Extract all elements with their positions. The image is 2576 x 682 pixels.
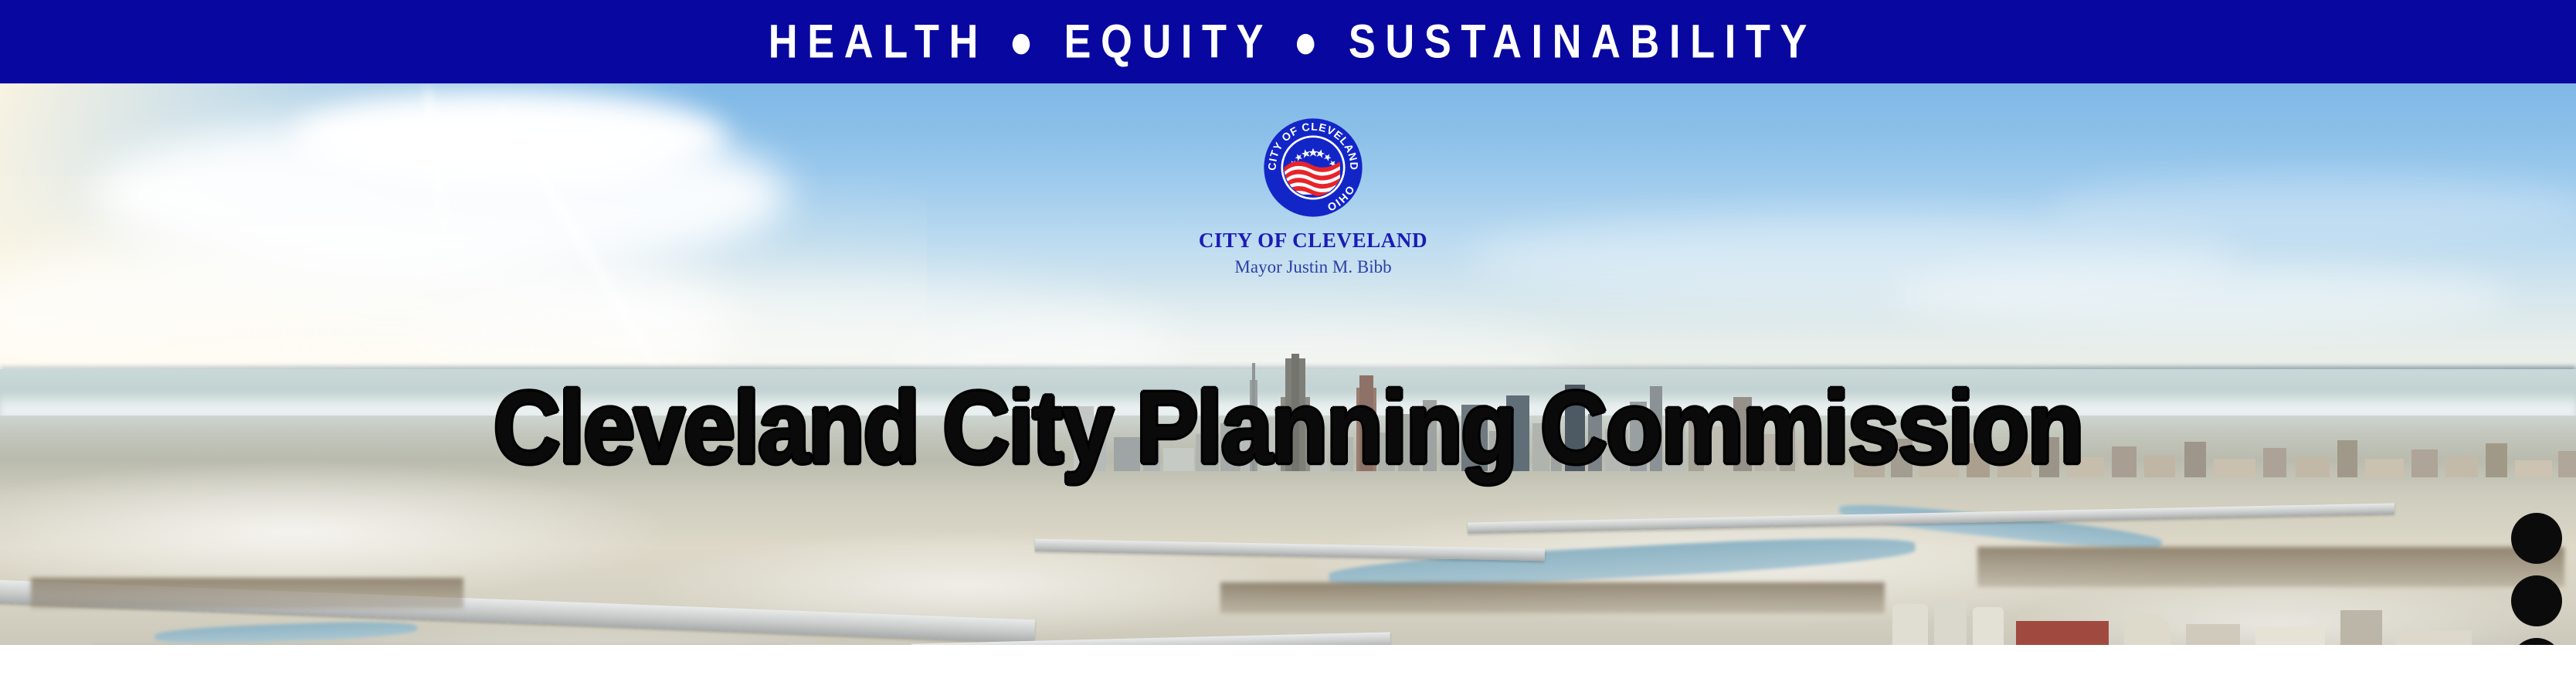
cloud <box>2047 176 2576 238</box>
page-root: HEALTH ● EQUITY ● SUSTAINABILITY <box>0 0 2576 682</box>
instagram-icon[interactable] <box>2511 575 2562 626</box>
city-identity-block: CITY OF CLEVELAND OHIO <box>1174 116 1452 276</box>
hero-photo: CITY OF CLEVELAND OHIO <box>0 83 2576 645</box>
treeline <box>31 578 463 609</box>
facebook-icon[interactable] <box>2511 638 2562 645</box>
youtube-icon[interactable] <box>2511 513 2562 564</box>
tagline-banner: HEALTH ● EQUITY ● SUSTAINABILITY <box>0 0 2576 83</box>
mayor-name-label: Mayor Justin M. Bibb <box>1174 258 1452 276</box>
industrial-valley-structures <box>1892 578 2479 645</box>
city-of-cleveland-seal: CITY OF CLEVELAND OHIO <box>1261 116 1365 219</box>
city-name-label: CITY OF CLEVELAND <box>1174 230 1452 251</box>
page-bottom-strip <box>0 645 2576 682</box>
treeline <box>1220 582 1885 613</box>
tagline-text: HEALTH ● EQUITY ● SUSTAINABILITY <box>759 18 1817 66</box>
cloud <box>294 91 726 184</box>
page-title: Cleveland City Planning Commission <box>0 377 2576 479</box>
social-links <box>2511 513 2562 645</box>
cloud <box>1892 261 2510 331</box>
